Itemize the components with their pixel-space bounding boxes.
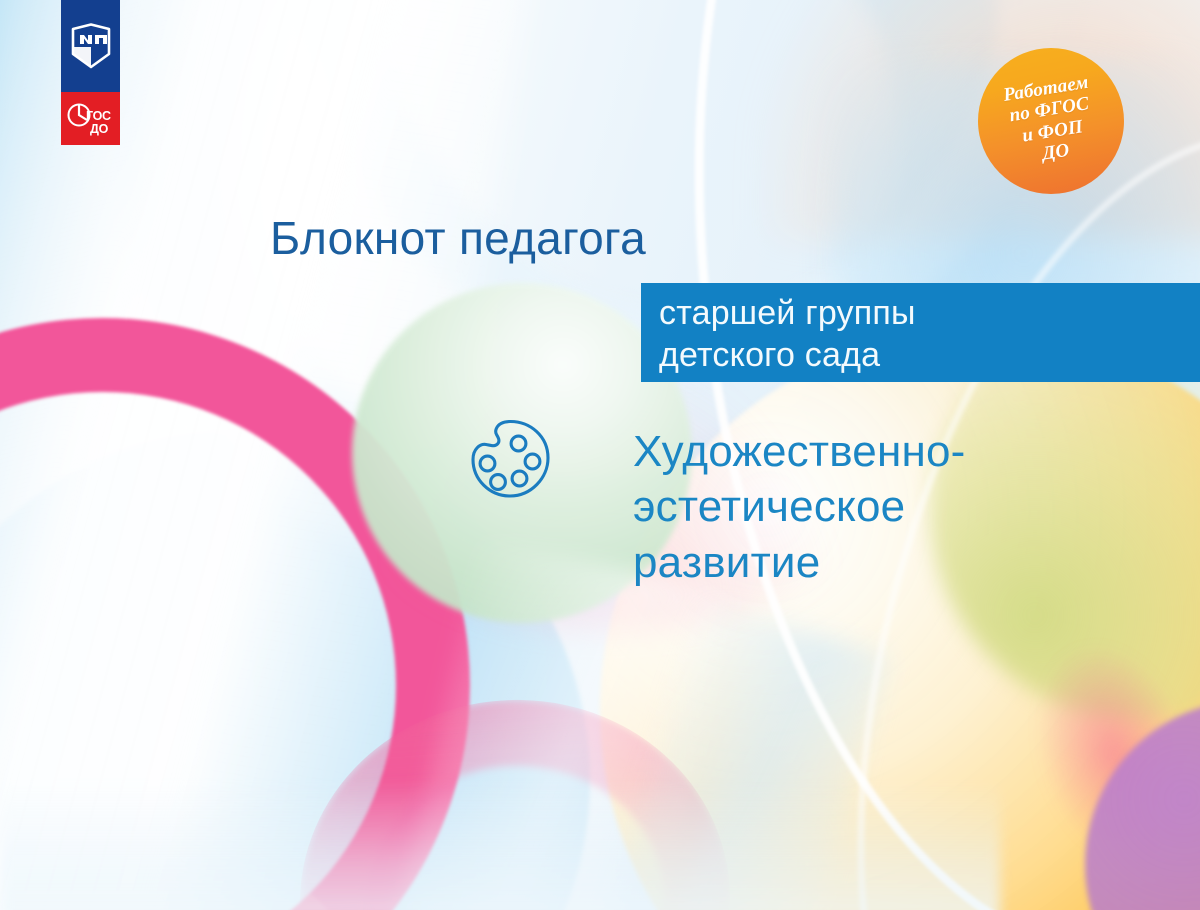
fgos-do-mark-icon: ГОС ДО — [66, 100, 116, 138]
background-pink-ring-fade — [287, 685, 744, 910]
background-orange-blob — [600, 330, 1200, 910]
ip-shield-icon — [70, 23, 112, 69]
publisher-logo-red-panel: ГОС ДО — [61, 92, 120, 145]
svg-text:ДО: ДО — [90, 122, 109, 136]
fgos-fop-badge: Работаем по ФГОС и ФОП ДО — [978, 48, 1124, 194]
fgos-fop-badge-text: Работаем по ФГОС и ФОП ДО — [1002, 72, 1100, 170]
background-white-streak — [387, 538, 733, 910]
background-pink-rim — [1008, 622, 1200, 887]
cover-subject-title: Художественно- эстетическое развитие — [633, 424, 1063, 590]
book-cover: ГОС ДО Работаем по ФГОС и ФОП ДО Блокнот… — [0, 0, 1200, 910]
cover-main-title: Блокнот педагога — [270, 214, 646, 262]
age-group-banner-text: старшей группы детского сада — [659, 292, 1200, 376]
publisher-logo: ГОС ДО — [61, 0, 120, 145]
background-pink-ring — [0, 318, 470, 910]
background-blue-streak — [589, 600, 892, 910]
age-group-banner: старшей группы детского сада — [641, 283, 1200, 382]
background-purple-blob — [1085, 700, 1200, 910]
background-bottom-veil — [0, 780, 1000, 910]
publisher-logo-navy-panel — [61, 0, 120, 92]
svg-text:ГОС: ГОС — [86, 109, 111, 123]
palette-icon — [466, 416, 556, 502]
